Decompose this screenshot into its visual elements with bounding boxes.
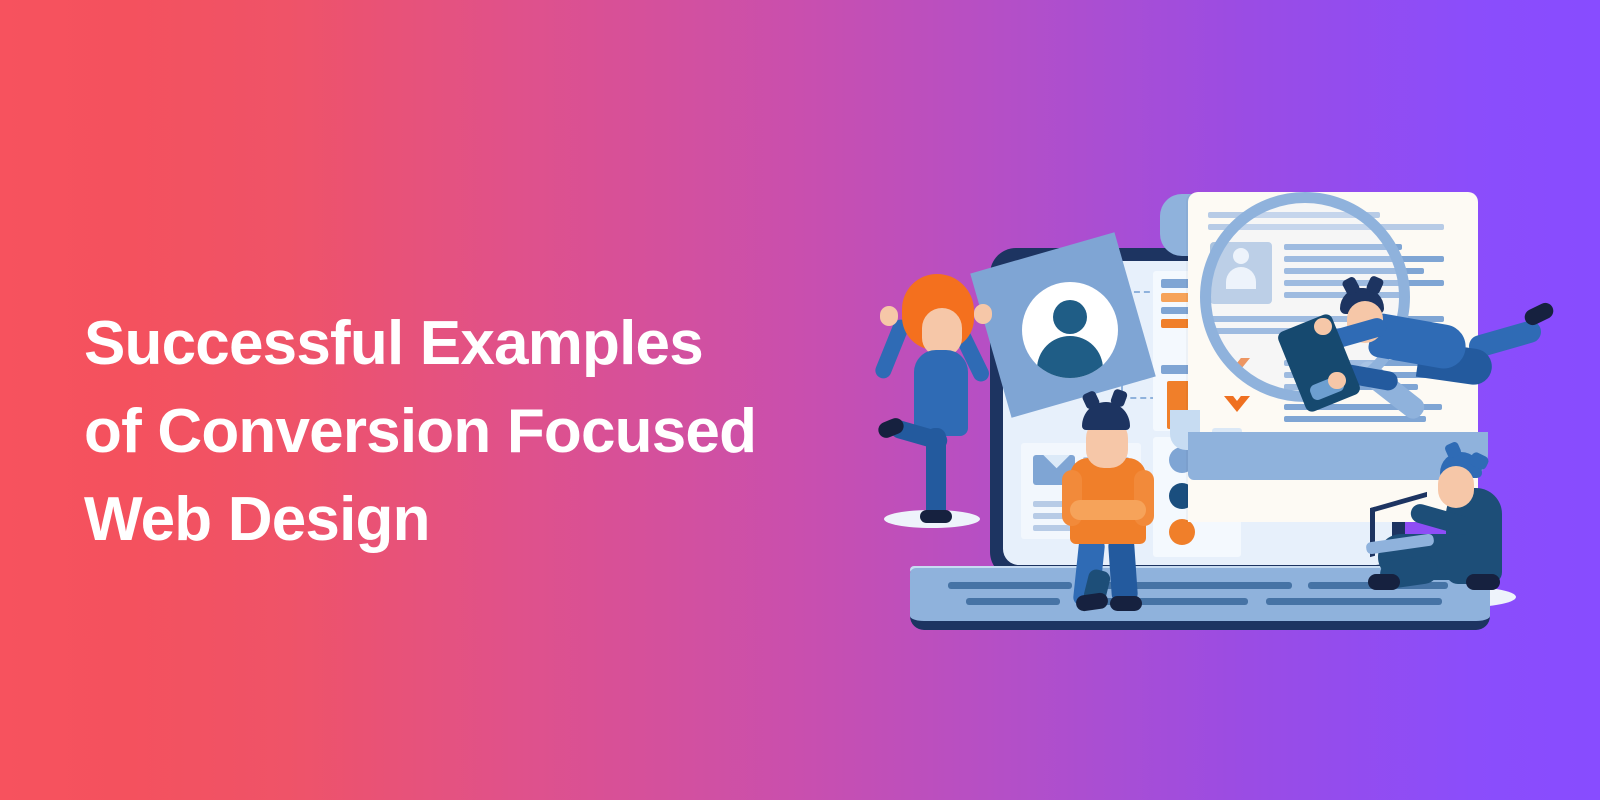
hero-illustration bbox=[870, 170, 1590, 640]
flying-man-hand-lower bbox=[1328, 372, 1346, 389]
woman-right-hand bbox=[974, 304, 992, 324]
sitting-man-head bbox=[1438, 466, 1474, 508]
avatar bbox=[1022, 282, 1118, 378]
status-dot-orange bbox=[1169, 519, 1195, 545]
keyboard-key-row bbox=[1266, 598, 1442, 605]
chevron-check-icon bbox=[1224, 396, 1250, 412]
sitting-man-front-shoe bbox=[1368, 574, 1400, 590]
sitting-man-back-shoe bbox=[1466, 574, 1500, 590]
man-right-shoe bbox=[1110, 596, 1142, 611]
woman-left-hand bbox=[880, 306, 898, 326]
headline-line-1: Successful Examples bbox=[84, 300, 904, 388]
avatar-head-icon bbox=[1053, 300, 1087, 334]
man-crossed-arms bbox=[1070, 500, 1146, 520]
keyboard-key-row bbox=[948, 582, 1072, 589]
woman-standing-leg bbox=[926, 428, 946, 520]
man-right-leg bbox=[1108, 537, 1138, 603]
avatar-body-icon bbox=[1037, 336, 1103, 378]
doc-text-line bbox=[1284, 416, 1426, 422]
page-title: Successful Examples of Conversion Focuse… bbox=[84, 300, 904, 564]
woman-standing-shoe bbox=[920, 510, 952, 523]
hero-banner: Successful Examples of Conversion Focuse… bbox=[0, 0, 1600, 800]
flying-man-shoe bbox=[1522, 300, 1556, 328]
headline-line-3: Web Design bbox=[84, 476, 904, 564]
man-hair bbox=[1082, 402, 1130, 430]
keyboard-key-row bbox=[966, 598, 1060, 605]
woman-head bbox=[922, 308, 962, 356]
flying-man-hand-upper bbox=[1314, 318, 1332, 335]
headline-line-2: of Conversion Focused bbox=[84, 388, 904, 476]
woman-torso bbox=[914, 350, 968, 436]
